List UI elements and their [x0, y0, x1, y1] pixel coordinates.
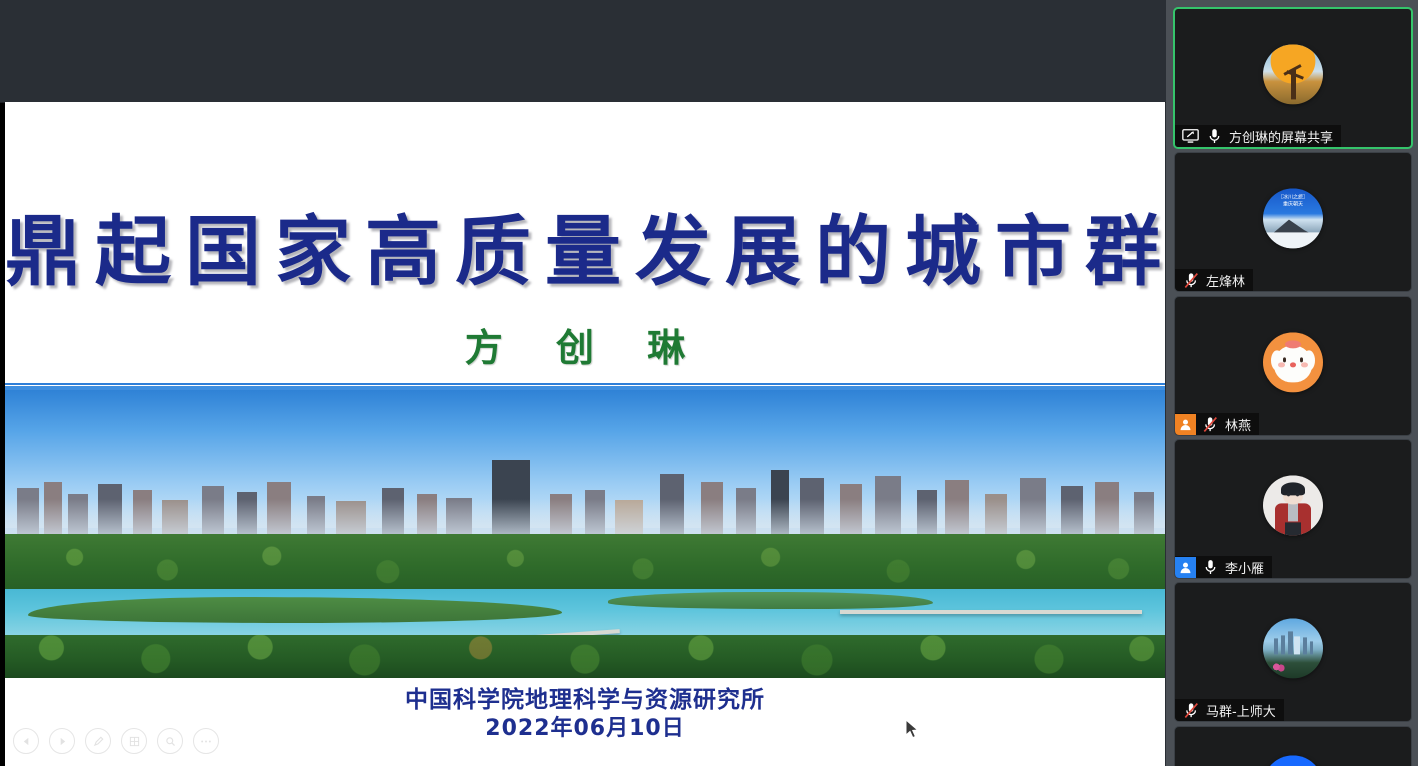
pen-annotation-button[interactable] [85, 728, 111, 754]
avatar [1263, 44, 1323, 104]
microphone-muted-icon [1181, 700, 1201, 720]
city-skyline-avatar-image [1263, 618, 1323, 678]
avatar [1263, 475, 1323, 535]
photo-treeline-near-texture [5, 635, 1165, 678]
participant-name: 左烽林 [1206, 271, 1245, 290]
shared-screen-stage[interactable]: 鼎起国家高质量发展的城市群 方 创 琳 [0, 0, 1166, 766]
microphone-muted-icon [1200, 414, 1220, 434]
next-slide-button[interactable] [49, 728, 75, 754]
participant-tile-maqun[interactable]: 马群-上师大 [1174, 582, 1412, 722]
ellipsis-icon [200, 739, 212, 744]
microphone-icon [1204, 126, 1224, 146]
participant-tile-partial[interactable] [1174, 726, 1412, 766]
participant-name: 李小雁 [1225, 558, 1264, 577]
pen-icon [93, 736, 104, 747]
avatar [1263, 755, 1323, 766]
microphone-muted-icon [1181, 270, 1201, 290]
participant-name: 马群-上师大 [1206, 701, 1276, 720]
tile-footer: 林燕 [1175, 413, 1259, 435]
avatar: 〖冰川之旅〗重庆朝天 [1263, 188, 1323, 248]
presenter-toolbar[interactable] [13, 728, 219, 754]
autumn-tree-avatar-image [1263, 44, 1323, 104]
photo-bridge-right [840, 610, 1142, 614]
participant-tile-zuofenglin[interactable]: 〖冰川之旅〗重庆朝天 左烽林 [1174, 152, 1412, 292]
participant-tile-screen-share[interactable]: 方创琳的屏幕共享 [1173, 7, 1413, 149]
previous-slide-button[interactable] [13, 728, 39, 754]
participant-filmstrip[interactable]: 方创琳的屏幕共享 〖冰川之旅〗重庆朝天 [1166, 0, 1418, 766]
more-options-button[interactable] [193, 728, 219, 754]
tile-footer: 方创琳的屏幕共享 [1175, 125, 1341, 147]
grid-slides-icon [129, 736, 140, 747]
slide-divider-rule [5, 383, 1165, 390]
blue-circle-avatar-image [1263, 755, 1323, 766]
cartoon-bunny-avatar-image [1263, 332, 1323, 392]
triangle-right-icon [58, 737, 67, 746]
snow-mountain-avatar-image: 〖冰川之旅〗重庆朝天 [1263, 188, 1323, 248]
avatar [1263, 332, 1323, 392]
microphone-icon [1200, 557, 1220, 577]
person-badge-icon [1175, 414, 1196, 435]
slide-author: 方 创 琳 [5, 317, 1165, 372]
stage-letterbox-top [0, 0, 1166, 103]
participant-tile-linyan[interactable]: 林燕 [1174, 296, 1412, 436]
triangle-left-icon [22, 737, 31, 746]
participant-tile-lixiaoyan[interactable]: 李小雁 [1174, 439, 1412, 579]
tile-footer: 李小雁 [1175, 556, 1272, 578]
slide-title: 鼎起国家高质量发展的城市群 [5, 190, 1165, 300]
slide-footer-organization: 中国科学院地理科学与资源研究所 [5, 686, 1165, 715]
presentation-slide[interactable]: 鼎起国家高质量发展的城市群 方 创 琳 [5, 102, 1165, 766]
zoom-in-slide-button[interactable] [157, 728, 183, 754]
all-slides-button[interactable] [121, 728, 147, 754]
cartoon-man-avatar-image [1263, 475, 1323, 535]
screen-share-icon [1180, 126, 1200, 146]
avatar [1263, 618, 1323, 678]
photo-treeline-far-texture [5, 534, 1165, 592]
photo-island-right [608, 592, 933, 609]
tile-footer: 马群-上师大 [1175, 699, 1284, 721]
participant-name: 林燕 [1225, 415, 1251, 434]
magnifier-icon [165, 736, 176, 747]
slide-cityscape-photo [5, 390, 1165, 678]
tile-footer: 左烽林 [1175, 269, 1253, 291]
meeting-window: 鼎起国家高质量发展的城市群 方 创 琳 [0, 0, 1418, 766]
participant-name: 方创琳的屏幕共享 [1229, 127, 1333, 146]
person-badge-icon [1175, 557, 1196, 578]
